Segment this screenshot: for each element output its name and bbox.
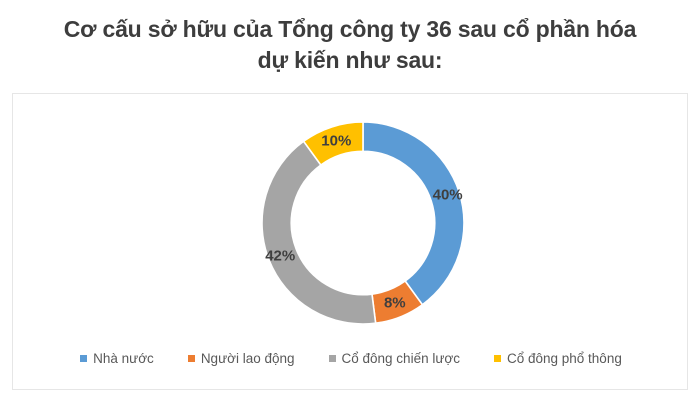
doughnut-slice[interactable] bbox=[262, 141, 376, 324]
doughnut-chart: 40%8%42%10% bbox=[250, 117, 476, 329]
legend-swatch-icon bbox=[80, 355, 87, 362]
title-line-2: dự kiến như sau: bbox=[0, 45, 700, 76]
legend-item[interactable]: Người lao động bbox=[188, 352, 295, 366]
legend-item[interactable]: Cổ đông phổ thông bbox=[494, 352, 622, 366]
slice-data-label: 42% bbox=[265, 248, 295, 263]
legend-item-label: Cổ đông phổ thông bbox=[507, 352, 622, 366]
legend-swatch-icon bbox=[494, 355, 501, 362]
legend-item-label: Người lao động bbox=[201, 352, 295, 366]
chart-legend: Nhà nướcNgười lao độngCổ đông chiến lược… bbox=[13, 352, 689, 366]
legend-item[interactable]: Cổ đông chiến lược bbox=[329, 352, 460, 366]
legend-item-label: Cổ đông chiến lược bbox=[342, 352, 460, 366]
slice-data-label: 40% bbox=[433, 188, 463, 203]
legend-item-label: Nhà nước bbox=[93, 352, 154, 366]
page-title: Cơ cấu sở hữu của Tổng công ty 36 sau cổ… bbox=[0, 14, 700, 76]
doughnut-svg bbox=[250, 117, 476, 329]
legend-swatch-icon bbox=[329, 355, 336, 362]
slice-data-label: 10% bbox=[321, 133, 351, 148]
chart-page: Cơ cấu sở hữu của Tổng công ty 36 sau cổ… bbox=[0, 0, 700, 402]
title-line-1: Cơ cấu sở hữu của Tổng công ty 36 sau cổ… bbox=[0, 14, 700, 45]
doughnut-slice[interactable] bbox=[363, 122, 464, 305]
slice-data-label: 8% bbox=[384, 296, 406, 311]
doughnut-slice-group bbox=[262, 122, 464, 324]
legend-item[interactable]: Nhà nước bbox=[80, 352, 154, 366]
legend-swatch-icon bbox=[188, 355, 195, 362]
chart-frame: 40%8%42%10% Nhà nướcNgười lao độngCổ đôn… bbox=[12, 93, 688, 390]
